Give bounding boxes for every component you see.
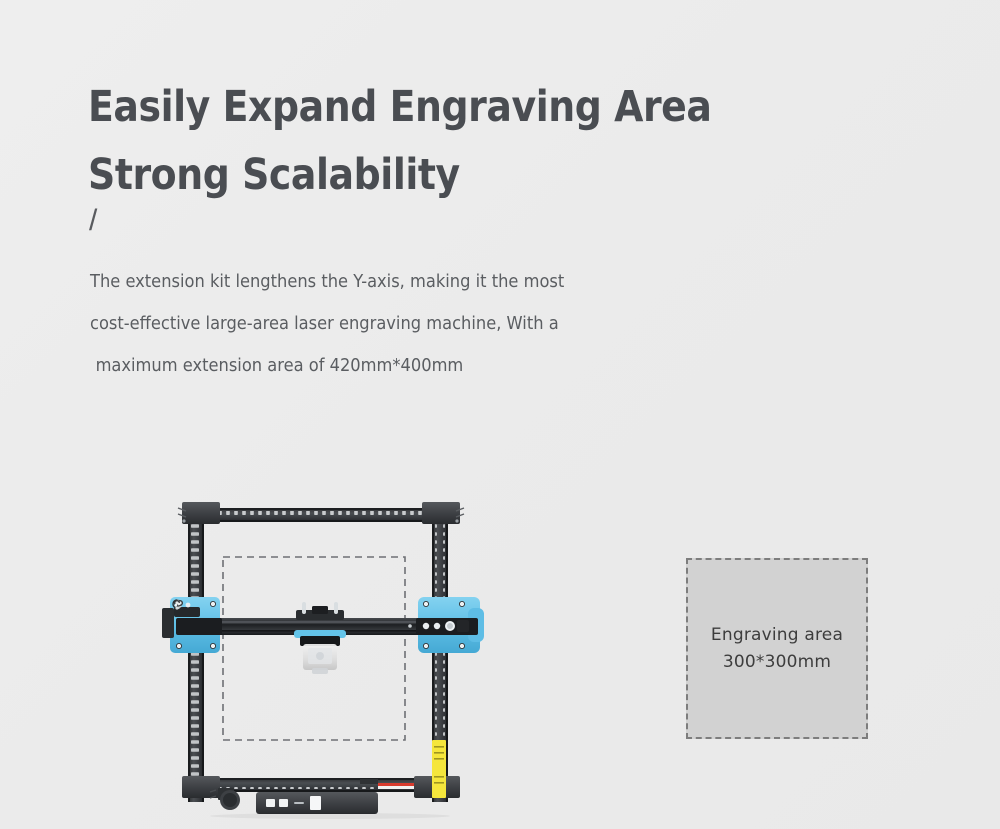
laser-module <box>294 602 346 674</box>
body-copy: The extension kit lengthens the Y-axis, … <box>90 261 769 387</box>
page-title-line-2: Strong Scalability <box>88 141 827 209</box>
page-title-line-1: Easily Expand Engraving Area <box>88 73 827 141</box>
laser-engraver-illustration <box>160 490 500 820</box>
body-copy-line-3: maximum extension area of 420mm*400mm <box>90 345 769 387</box>
frame-rail-left <box>188 508 204 802</box>
carriage-left <box>162 597 222 653</box>
body-copy-line-1: The extension kit lengthens the Y-axis, … <box>90 261 769 303</box>
engraving-area-callout: Engraving area 300*300mm <box>686 558 868 739</box>
frame-rail-top <box>194 508 444 522</box>
engraving-area-label: Engraving area <box>711 622 843 649</box>
controller-box <box>256 792 378 814</box>
body-copy-line-2: cost-effective large-area laser engravin… <box>90 303 769 345</box>
warning-label <box>432 740 446 798</box>
slash-divider: / <box>89 206 97 236</box>
engraving-area-dimensions: 300*300mm <box>723 649 831 676</box>
carriage-right <box>416 597 484 653</box>
page-root: Easily Expand Engraving Area Strong Scal… <box>0 0 1000 829</box>
page-title: Easily Expand Engraving Area Strong Scal… <box>88 73 827 209</box>
